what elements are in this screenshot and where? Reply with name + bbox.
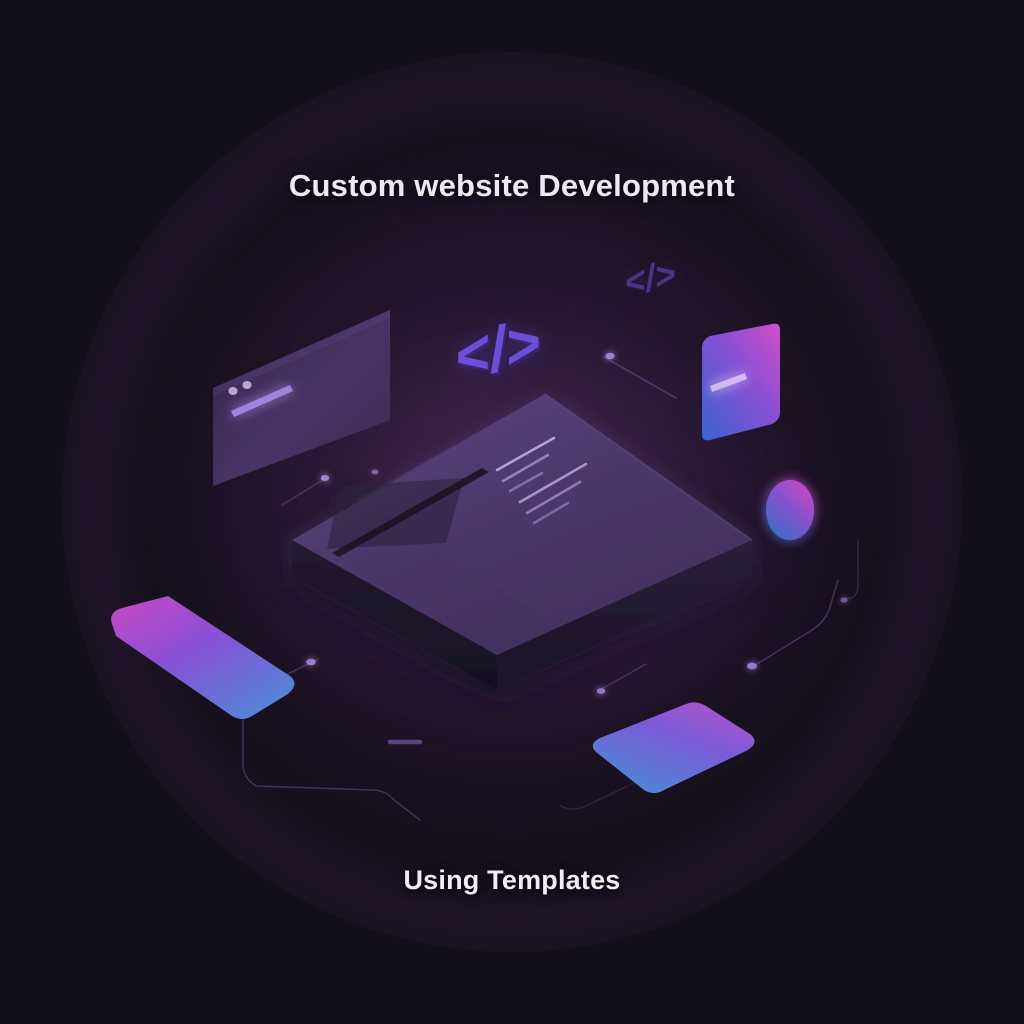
connector-dot-5 [321,475,329,481]
gradient-phone-left[interactable] [111,596,294,719]
gradient-card-right-face [702,324,780,441]
connector-dot-2 [747,663,757,670]
connector-dot-4 [597,688,605,694]
gradient-card-right[interactable] [702,324,780,441]
illustration-canvas: </> </> Custom website Development Using… [0,0,1024,1024]
page-subtitle: Using Templates [0,865,1024,896]
trace-right-lower [757,580,838,664]
browser-dot-1 [228,387,237,395]
browser-dot-2 [242,381,251,389]
connector-dot-1 [605,353,614,359]
connector-dot-6 [840,597,847,602]
browser-window-face [213,310,390,486]
page-title: Custom website Development [0,168,1024,204]
trace-bottom-mid [600,664,646,690]
browser-window-panel[interactable] [213,310,390,486]
isometric-website-slab[interactable] [292,394,752,690]
gradient-tablet-bottom[interactable] [593,702,755,803]
trace-left-mid [282,478,326,505]
connector-dot-3 [306,659,316,665]
connector-dot-7 [372,470,379,475]
slab-nav-bar [327,478,464,549]
gradient-phone-left-face [111,596,294,719]
gradient-sphere[interactable] [766,480,814,540]
trace-right-outer [846,540,858,598]
trace-upper-right [604,357,676,398]
